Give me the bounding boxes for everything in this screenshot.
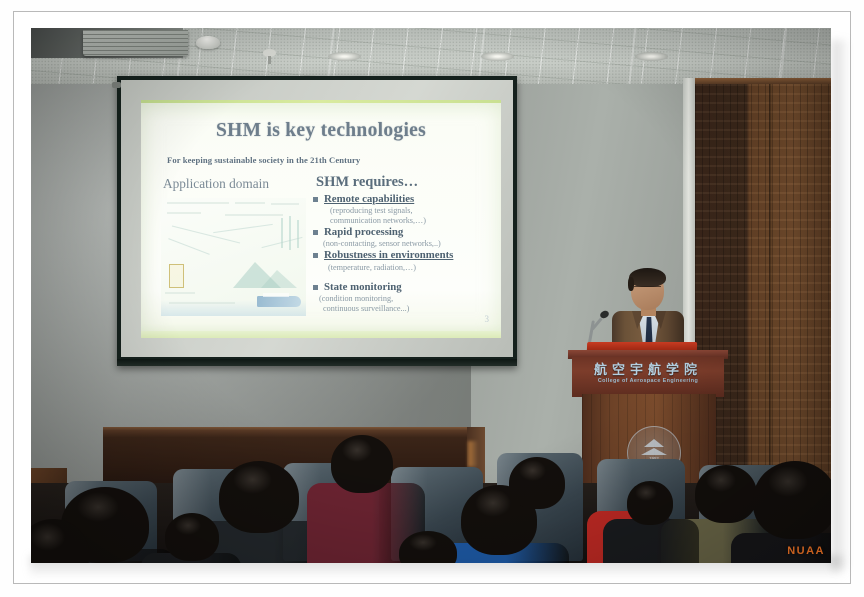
frame-drop-shadow-right — [832, 40, 850, 570]
bullet-detail: (condition monitoring, — [319, 294, 393, 303]
domain-art-highlight-box — [169, 264, 184, 288]
lecture-hall-photograph: SHM is key technologies For keeping sust… — [31, 28, 831, 563]
hair-sheen — [706, 468, 736, 491]
hair-sheen — [475, 489, 511, 517]
audience — [31, 423, 831, 563]
photo-frame: SHM is key technologies For keeping sust… — [0, 0, 864, 597]
bullet-detail: communication networks,…) — [330, 216, 426, 225]
recessed-ceiling-light — [328, 52, 361, 61]
person-black-jacket-head — [219, 461, 299, 533]
nuaa-watermark: NUAA — [787, 545, 825, 557]
bullet-detail: (non-contacting, sensor networks,..) — [323, 239, 441, 248]
bullet-heading: Rapid processing — [324, 226, 403, 238]
slide-page-number: 3 — [485, 314, 490, 324]
person-red-jacket-head — [509, 457, 565, 509]
slide-right-column-heading: SHM requires… — [316, 174, 418, 191]
bullet-heading: State monitoring — [324, 281, 402, 293]
domain-art-ship — [257, 296, 301, 307]
hair-sheen — [175, 516, 201, 535]
hair-sheen — [409, 534, 437, 552]
smoke-detector-icon — [196, 36, 220, 49]
hair-sheen — [342, 438, 372, 461]
domain-art-mountain — [261, 270, 297, 288]
bullet-heading: Remote capabilities — [324, 193, 414, 205]
hair-sheen — [768, 466, 808, 497]
application-domain-illustration — [161, 198, 306, 316]
vent-louvers-icon — [83, 30, 188, 56]
bullet-square-icon — [313, 230, 318, 235]
bullet-square-icon — [313, 253, 318, 258]
hair-sheen — [233, 465, 271, 494]
person-olive-jacket-head — [695, 465, 757, 523]
bullet-detail: continuous surveillance...) — [323, 304, 409, 313]
person-center-back-head — [165, 513, 219, 561]
slide-subtitle: For keeping sustainable society in the 2… — [167, 155, 467, 165]
screen-mount-bracket — [112, 82, 121, 88]
slide-top-accent-bar — [141, 100, 501, 103]
presentation-slide: SHM is key technologies For keeping sust… — [141, 100, 501, 338]
person-rear-right-head — [627, 481, 673, 525]
podium-english-label: College of Aerospace Engineering — [579, 378, 717, 384]
recessed-ceiling-light — [635, 52, 668, 61]
person-rear-right-body — [603, 519, 699, 563]
bullet-square-icon — [313, 285, 318, 290]
hair-sheen — [77, 492, 119, 522]
speaker-hair — [629, 268, 666, 287]
screen-bottom-bar — [117, 359, 517, 366]
hair-sheen — [31, 523, 65, 551]
person-front-right-head — [753, 461, 831, 539]
slide-bottom-accent-band — [141, 331, 501, 338]
air-conditioning-vent — [83, 30, 188, 56]
bullet-square-icon — [313, 197, 318, 202]
bullet-heading: Robustness in environments — [324, 249, 453, 261]
person-maroon-jacket-head — [331, 435, 393, 493]
sprinkler-head-icon — [263, 49, 276, 57]
bullet-detail: (reproducing test signals, — [330, 206, 413, 215]
projection-screen: SHM is key technologies For keeping sust… — [117, 76, 517, 366]
speaker-glasses-icon — [634, 286, 661, 291]
hair-sheen — [635, 484, 657, 502]
recessed-ceiling-light — [481, 52, 514, 61]
podium-chinese-label: 航空宇航学院 — [579, 359, 717, 378]
bullet-detail: (temperature, radiation,…) — [328, 263, 416, 272]
slide-title: SHM is key technologies — [141, 120, 501, 142]
hair-sheen — [519, 460, 546, 481]
slide-left-column-heading: Application domain — [163, 176, 269, 192]
screen-surface: SHM is key technologies For keeping sust… — [121, 80, 513, 357]
